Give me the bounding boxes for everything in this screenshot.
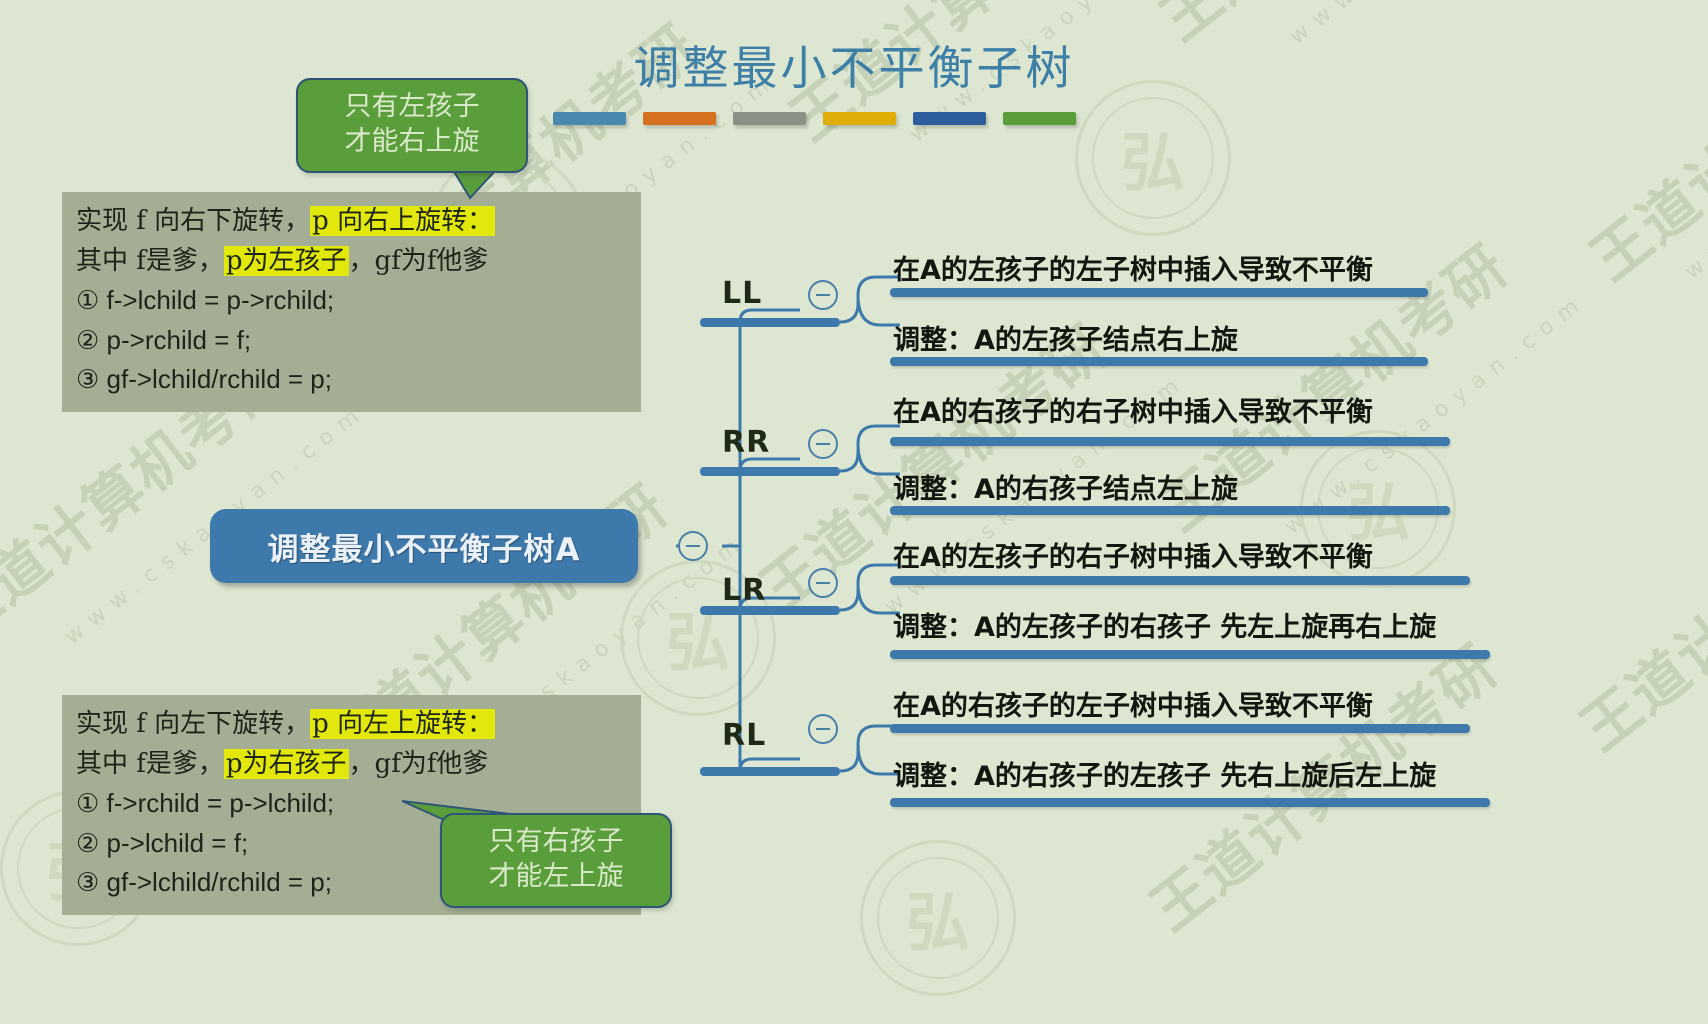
root-node[interactable]: 调整最小不平衡子树A xyxy=(210,509,638,583)
leaf-text-lr-0: 在A的左孩子的右子树中插入导致不平衡 xyxy=(893,535,1373,574)
collapse-toggle-root[interactable] xyxy=(678,531,708,561)
branch-label-ll: LL xyxy=(722,276,762,311)
leaf-bar-rl-1 xyxy=(890,798,1490,807)
code-line-2-suffix: ，gf为f他爹 xyxy=(349,749,489,779)
leaf-bar-rr-0 xyxy=(890,437,1450,446)
branch-label-rr: RR xyxy=(722,425,770,460)
branch-bar-lr xyxy=(700,606,840,615)
callout-line-1: 只有左孩子 xyxy=(314,90,510,125)
bar-orange xyxy=(643,112,716,125)
code-line-4: ② p->rchild = f; xyxy=(76,321,629,361)
seal-glyph: 弘 xyxy=(1078,112,1228,204)
code-line-1-prefix: 实现 f 向右下旋转， xyxy=(76,206,310,236)
watermark-brand: 王道计算机考研 xyxy=(1560,441,1708,766)
leaf-text-rr-1: 调整：A的右孩子结点左上旋 xyxy=(893,467,1238,506)
code-line-1: 实现 f 向左下旋转，p 向左上旋转： xyxy=(76,705,629,745)
callout-line-2: 才能右上旋 xyxy=(314,125,510,160)
collapse-toggle-rl[interactable] xyxy=(808,714,838,744)
bar-teal xyxy=(553,112,626,125)
leaf-bar-ll-0 xyxy=(890,288,1428,297)
code-line-1-highlight: p 向左上旋转： xyxy=(310,709,495,739)
code-line-2-highlight: p为右孩子 xyxy=(224,749,349,779)
branch-label-lr: LR xyxy=(722,573,766,608)
code-line-2-highlight: p为左孩子 xyxy=(224,246,349,276)
callout-right-child-note: 只有右孩子 才能左上旋 xyxy=(440,813,672,908)
branch-bar-rr xyxy=(700,467,840,476)
code-line-2-suffix: ，gf为f他爹 xyxy=(349,246,489,276)
code-line-1: 实现 f 向右下旋转，p 向右上旋转： xyxy=(76,202,629,242)
slide-canvas: 王道计算机考研 www.cskaoyan.com 王道计算机考研 www.csk… xyxy=(0,0,1708,1024)
watermark-seal: 弘 xyxy=(860,840,1016,996)
code-line-2: 其中 f是爹，p为右孩子，gf为f他爹 xyxy=(76,745,629,785)
collapse-toggle-rr[interactable] xyxy=(808,429,838,459)
code-line-2-prefix: 其中 f是爹， xyxy=(76,749,224,779)
leaf-text-ll-0: 在A的左孩子的左子树中插入导致不平衡 xyxy=(893,248,1373,287)
bar-gold xyxy=(823,112,896,125)
code-box-right-rotation: 实现 f 向右下旋转，p 向右上旋转： 其中 f是爹，p为左孩子，gf为f他爹 … xyxy=(62,192,641,412)
branch-label-rl: RL xyxy=(722,718,766,753)
collapse-toggle-ll[interactable] xyxy=(808,280,838,310)
watermark-seal: 弘 xyxy=(1075,80,1231,236)
callout-line-1: 只有右孩子 xyxy=(458,825,654,860)
bar-gray xyxy=(733,112,806,125)
branch-bar-rl xyxy=(700,767,840,776)
code-line-1-highlight: p 向右上旋转： xyxy=(310,206,495,236)
leaf-bar-rl-0 xyxy=(890,724,1470,733)
leaf-text-lr-1: 调整：A的左孩子的右孩子 先左上旋再右上旋 xyxy=(893,605,1436,644)
leaf-bar-ll-1 xyxy=(890,357,1428,366)
leaf-bar-lr-0 xyxy=(890,576,1470,585)
leaf-text-ll-1: 调整：A的左孩子结点右上旋 xyxy=(893,318,1238,357)
callout-line-2: 才能左上旋 xyxy=(458,860,654,895)
code-line-2-prefix: 其中 f是爹， xyxy=(76,246,224,276)
callout-left-child-note: 只有左孩子 才能右上旋 xyxy=(296,78,528,173)
bar-green xyxy=(1003,112,1076,125)
bar-navy xyxy=(913,112,986,125)
code-line-1-prefix: 实现 f 向左下旋转， xyxy=(76,709,310,739)
leaf-text-rl-1: 调整：A的右孩子的左孩子 先右上旋后左上旋 xyxy=(893,754,1436,793)
page-title: 调整最小不平衡子树 xyxy=(0,32,1708,98)
title-color-bars xyxy=(553,112,1076,125)
collapse-toggle-lr[interactable] xyxy=(808,568,838,598)
seal-glyph: 弘 xyxy=(863,872,1013,964)
leaf-bar-lr-1 xyxy=(890,650,1490,659)
leaf-text-rl-0: 在A的右孩子的左子树中插入导致不平衡 xyxy=(893,684,1373,723)
leaf-text-rr-0: 在A的右孩子的右子树中插入导致不平衡 xyxy=(893,390,1373,429)
branch-bar-ll xyxy=(700,318,840,327)
code-line-3: ① f->lchild = p->rchild; xyxy=(76,281,629,321)
code-line-2: 其中 f是爹，p为左孩子，gf为f他爹 xyxy=(76,242,629,282)
leaf-bar-rr-1 xyxy=(890,506,1450,515)
code-line-5: ③ gf->lchild/rchild = p; xyxy=(76,360,629,400)
root-node-label: 调整最小不平衡子树A xyxy=(268,524,581,569)
